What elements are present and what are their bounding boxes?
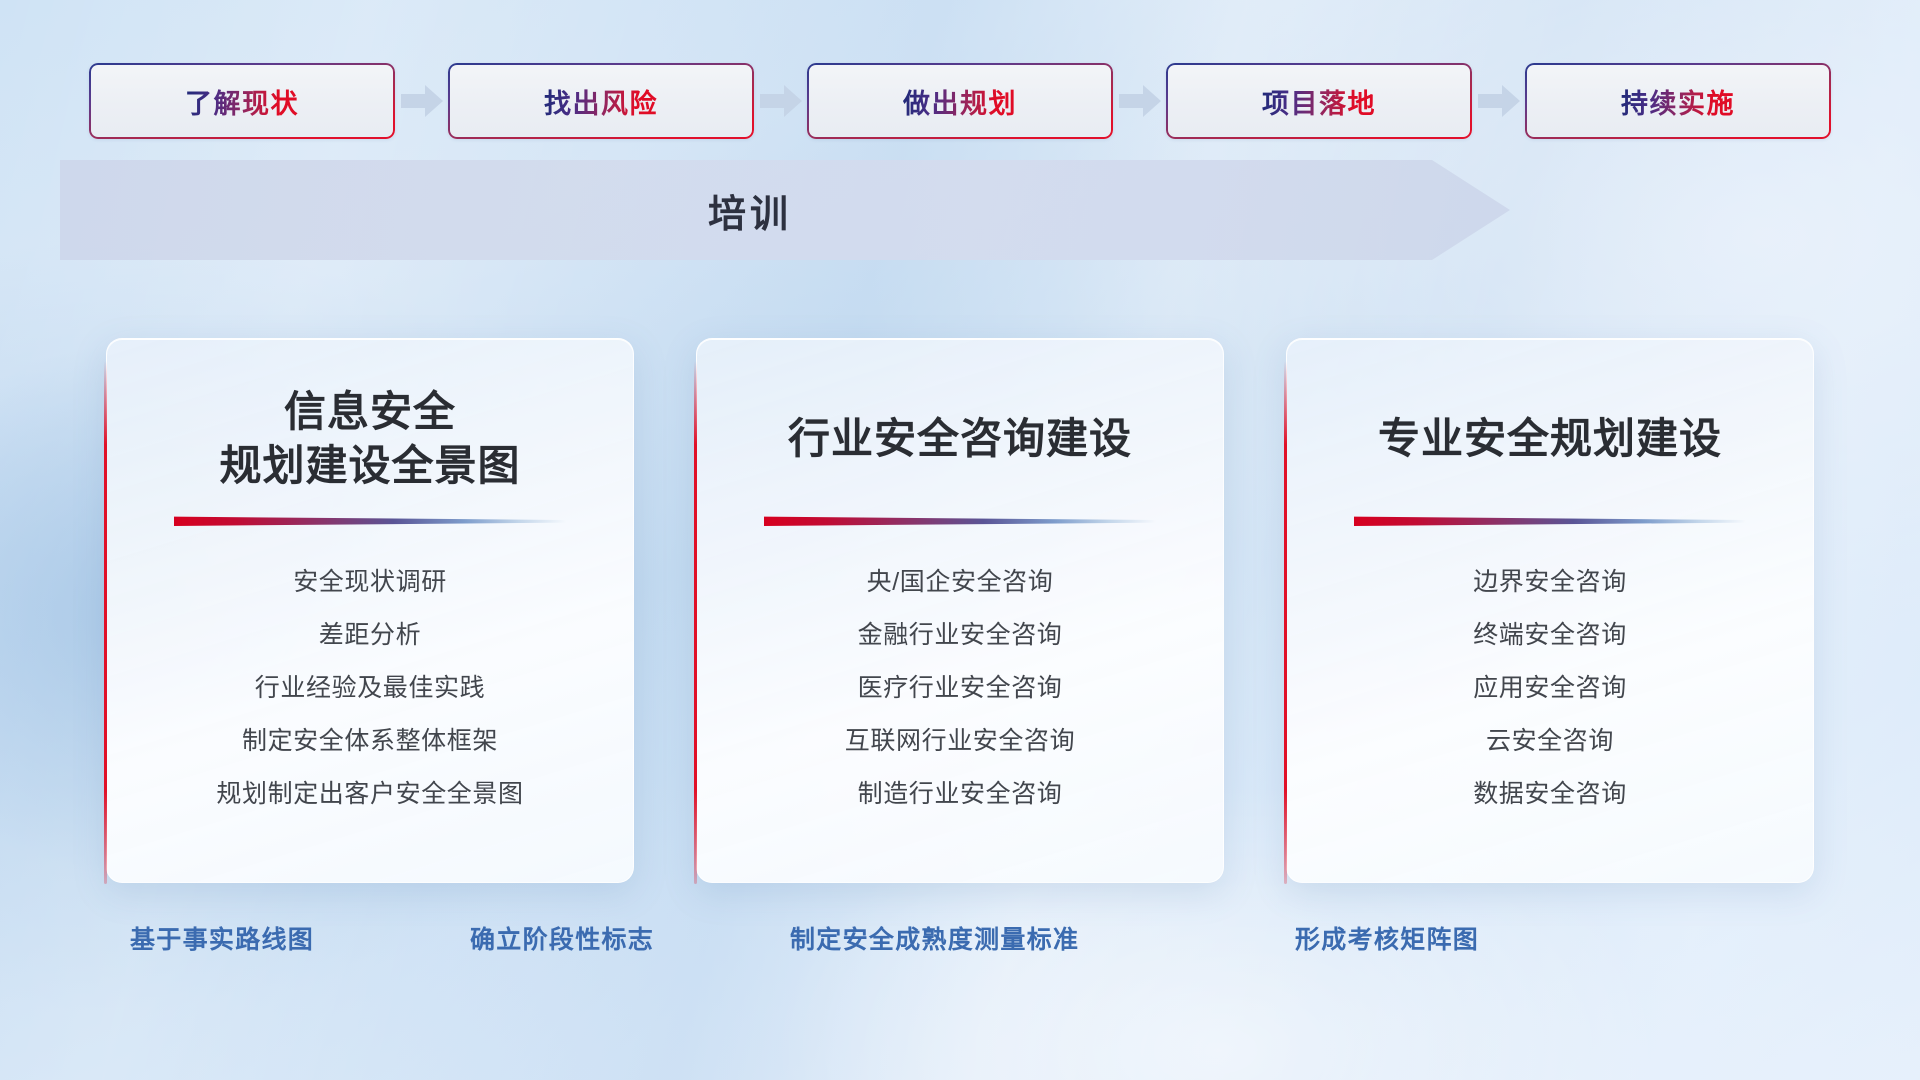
footnote-label-1: 基于事实路线图 [130,920,314,956]
card-divider [764,513,1156,526]
service-card-1[interactable]: 信息安全规划建设全景图安全现状调研差距分析行业经验及最佳实践制定安全体系整体框架… [106,338,634,883]
process-step-1[interactable]: 了解现状 [89,63,448,139]
process-step-label: 做出规划 [903,82,1017,121]
process-step-box[interactable]: 了解现状 [89,63,395,139]
process-step-label: 找出风险 [544,82,658,121]
process-step-box[interactable]: 项目落地 [1166,63,1472,139]
card-list-item[interactable]: 应用安全咨询 [1473,668,1627,704]
card-title-line: 信息安全 [219,385,520,439]
card-item-list: 央/国企安全咨询金融行业安全咨询医疗行业安全咨询互联网行业安全咨询制造行业安全咨… [697,562,1223,810]
card-divider [1354,513,1746,526]
footnote-row: 基于事实路线图确立阶段性标志制定安全成熟度测量标准形成考核矩阵图 [0,920,1920,968]
training-banner-label: 培训 [60,160,1510,260]
card-list-item[interactable]: 制定安全体系整体框架 [242,721,498,757]
card-accent-bar [1284,361,1287,884]
service-card-group: 信息安全规划建设全景图安全现状调研差距分析行业经验及最佳实践制定安全体系整体框架… [0,338,1920,883]
card-list-item[interactable]: 云安全咨询 [1486,721,1614,757]
card-list-item[interactable]: 央/国企安全咨询 [867,562,1054,598]
card-title: 专业安全规划建设 [1287,383,1813,495]
service-card-3[interactable]: 专业安全规划建设边界安全咨询终端安全咨询应用安全咨询云安全咨询数据安全咨询 [1286,338,1814,883]
card-list-item[interactable]: 边界安全咨询 [1473,562,1627,598]
card-list-item[interactable]: 金融行业安全咨询 [858,615,1063,651]
card-title-line: 行业安全咨询建设 [788,412,1132,466]
card-list-item[interactable]: 安全现状调研 [293,562,447,598]
process-step-label: 项目落地 [1262,82,1376,121]
card-list-item[interactable]: 互联网行业安全咨询 [845,721,1075,757]
chevron-right-arrow-icon [754,81,807,121]
process-step-box[interactable]: 持续实施 [1525,63,1831,139]
card-title-line: 专业安全规划建设 [1378,412,1722,466]
card-list-item[interactable]: 行业经验及最佳实践 [255,668,485,704]
card-divider [174,513,566,526]
card-title: 行业安全咨询建设 [697,383,1223,495]
card-list-item[interactable]: 制造行业安全咨询 [858,774,1063,810]
service-card-2[interactable]: 行业安全咨询建设央/国企安全咨询金融行业安全咨询医疗行业安全咨询互联网行业安全咨… [696,338,1224,883]
chevron-right-arrow-icon [1113,81,1166,121]
chevron-right-arrow-icon [395,81,448,121]
process-step-4[interactable]: 项目落地 [1166,63,1525,139]
card-list-item[interactable]: 数据安全咨询 [1473,774,1627,810]
chevron-right-arrow-icon [1472,81,1525,121]
card-item-list: 边界安全咨询终端安全咨询应用安全咨询云安全咨询数据安全咨询 [1287,562,1813,810]
card-list-item[interactable]: 终端安全咨询 [1473,615,1627,651]
card-list-item[interactable]: 医疗行业安全咨询 [858,668,1063,704]
footnote-label-4: 形成考核矩阵图 [1295,920,1479,956]
card-list-item[interactable]: 差距分析 [319,615,421,651]
card-accent-bar [694,361,697,884]
footnote-label-2: 确立阶段性标志 [470,920,654,956]
card-title-line: 规划建设全景图 [219,439,520,493]
footnote-label-3: 制定安全成熟度测量标准 [790,920,1079,956]
process-step-box[interactable]: 找出风险 [448,63,754,139]
process-step-3[interactable]: 做出规划 [807,63,1166,139]
card-accent-bar [104,361,107,884]
process-step-label: 持续实施 [1621,82,1735,121]
card-item-list: 安全现状调研差距分析行业经验及最佳实践制定安全体系整体框架规划制定出客户安全全景… [107,562,633,810]
process-step-label: 了解现状 [185,82,299,121]
process-step-2[interactable]: 找出风险 [448,63,807,139]
process-step-box[interactable]: 做出规划 [807,63,1113,139]
process-step-5[interactable]: 持续实施 [1525,63,1831,139]
card-title: 信息安全规划建设全景图 [107,383,633,495]
process-step-row: 了解现状找出风险做出规划项目落地持续实施 [0,62,1920,140]
card-list-item[interactable]: 规划制定出客户安全全景图 [216,774,523,810]
training-banner: 培训 [60,160,1510,260]
